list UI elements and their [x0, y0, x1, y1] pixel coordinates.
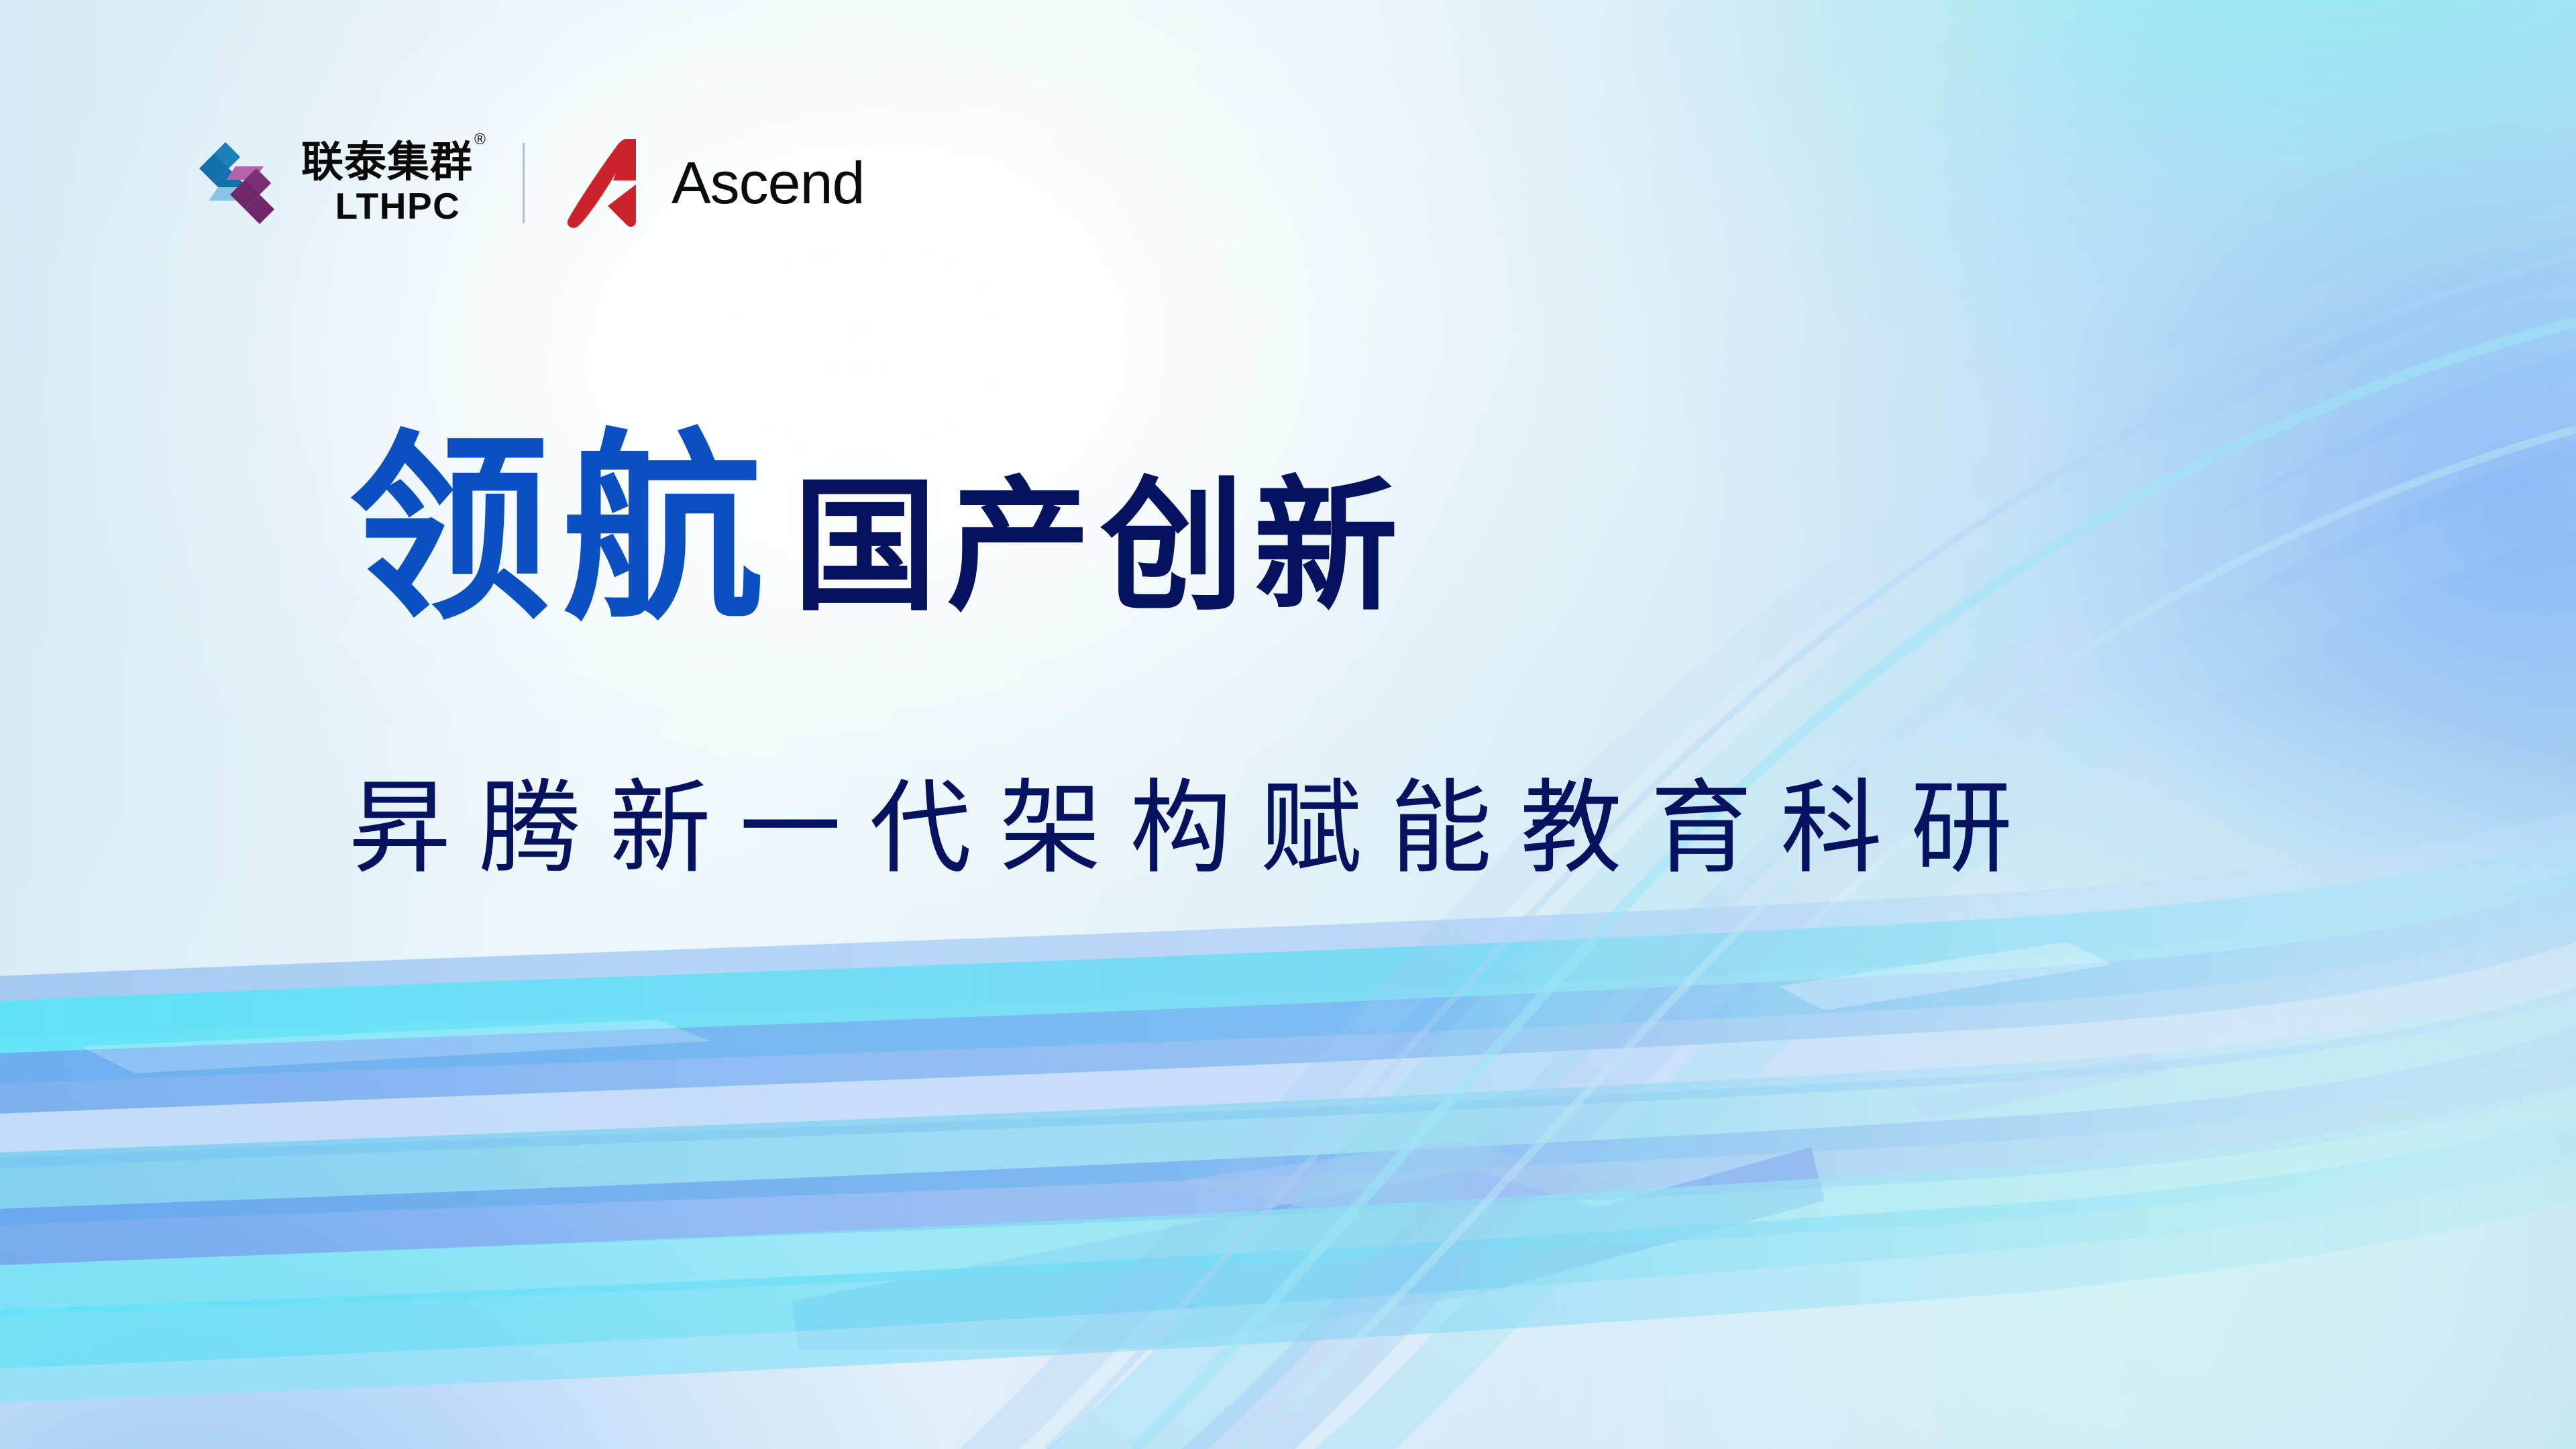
lthpc-english-name: LTHPC	[326, 188, 461, 225]
lthpc-interlocking-parallelogram-logo-icon	[198, 137, 284, 229]
ascend-a-mark-icon	[563, 136, 654, 230]
brand-divider-icon	[523, 143, 525, 223]
lthpc-chinese-name-text: 联泰集群	[301, 139, 473, 186]
registered-trademark-icon: ®	[474, 130, 486, 148]
headline-lead-text: 领航	[349, 429, 775, 631]
ascend-wordmark: Ascend	[672, 154, 865, 213]
page-title: 领航 国产创新	[349, 429, 1407, 631]
lthpc-logo[interactable]: 联泰集群® LTHPC	[198, 137, 485, 229]
lthpc-wordmark: 联泰集群® LTHPC	[301, 142, 485, 225]
lthpc-chinese-name: 联泰集群®	[301, 142, 485, 184]
logo-bar: 联泰集群® LTHPC Ascend	[198, 133, 864, 233]
headline-tail-text: 国产创新	[793, 474, 1407, 631]
ascend-logo[interactable]: Ascend	[563, 136, 865, 230]
poster-canvas: 联泰集群® LTHPC Ascend 领航 国产创新 昇腾新一代架构赋能教育科研	[0, 0, 2576, 1449]
page-subtitle: 昇腾新一代架构赋能教育科研	[349, 770, 2041, 888]
